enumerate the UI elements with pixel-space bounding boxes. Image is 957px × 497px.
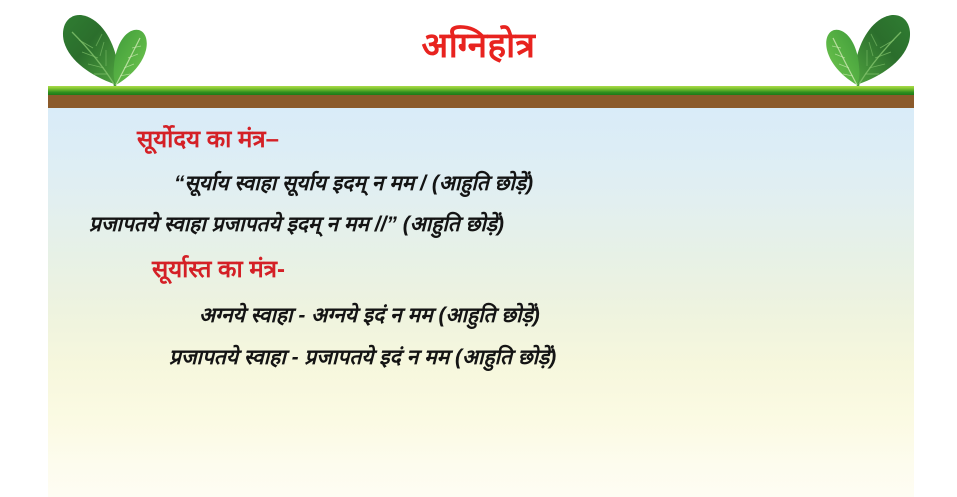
soil-band xyxy=(48,95,914,108)
sunset-mantra-line: प्रजापतये स्वाहा - प्रजापतये इदं न मम (आ… xyxy=(169,345,556,370)
page-title: अग्निहोत्र xyxy=(0,26,957,66)
sunrise-mantra-heading: सूर्योदय का मंत्र– xyxy=(137,126,279,155)
header-band: अग्निहोत्र xyxy=(0,0,957,88)
ground-strip xyxy=(48,86,914,108)
content-panel: सूर्योदय का मंत्र– “सूर्याय स्वाहा सूर्य… xyxy=(48,108,914,497)
sunrise-mantra-line: “सूर्याय स्वाहा सूर्याय इदम् न मम / (आहु… xyxy=(174,171,533,196)
sunrise-mantra-line: प्रजापतये स्वाहा प्रजापतये इदम् न मम //”… xyxy=(89,212,504,237)
grass-band xyxy=(48,86,914,95)
sunset-mantra-line: अग्नये स्वाहा - अग्नये इदं न मम (आहुति छ… xyxy=(199,303,540,328)
sunset-mantra-heading: सूर्यास्त का मंत्र- xyxy=(152,256,285,285)
